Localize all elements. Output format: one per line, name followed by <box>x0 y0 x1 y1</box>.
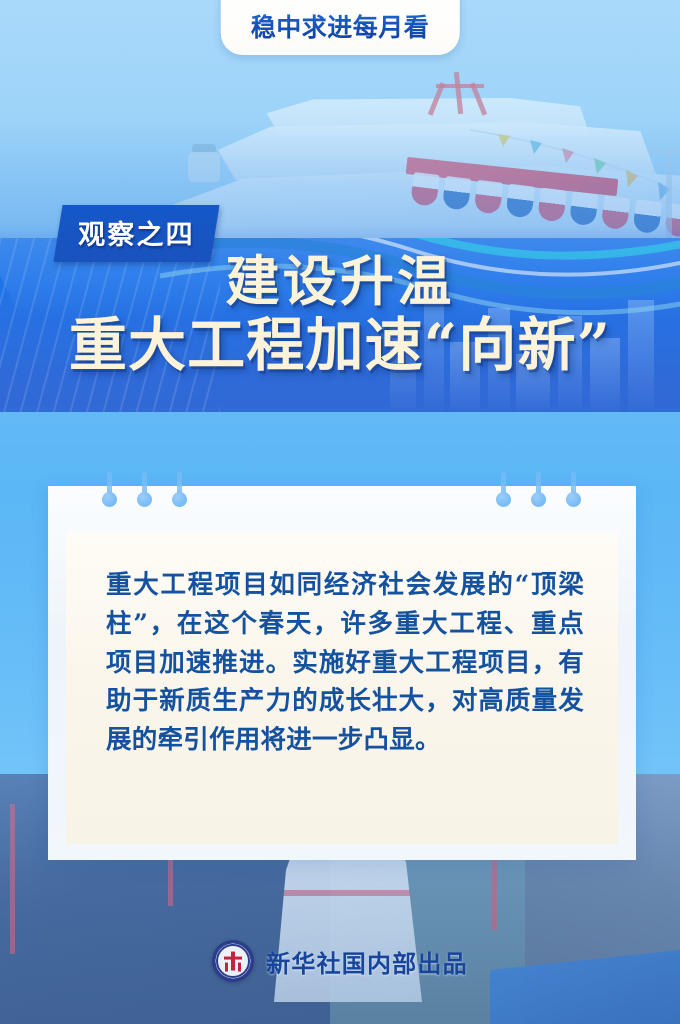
series-tag-observation: 观察之四 <box>53 205 219 262</box>
poster-root: 建设升温 重大工程加速“向新” 观察之四 稳中求进每月看 重大工程项目如同经 <box>0 0 680 1024</box>
title-line-1: 建设升温 <box>0 254 680 308</box>
content-card: 重大工程项目如同经济社会发展的“顶梁柱”，在这个春天，许多重大工程、重点项目加速… <box>48 486 636 860</box>
poster-title: 建设升温 重大工程加速“向新” <box>0 254 680 374</box>
xinhua-logo-icon <box>212 940 254 982</box>
series-badge: 稳中求进每月看 <box>221 0 460 55</box>
series-tag-label: 观察之四 <box>78 213 195 252</box>
title-band: 建设升温 重大工程加速“向新” <box>0 238 680 412</box>
card-pin-decorations <box>48 472 636 522</box>
content-card-panel: 重大工程项目如同经济社会发展的“顶梁柱”，在这个春天，许多重大工程、重点项目加速… <box>66 532 618 844</box>
logo-glyph <box>222 950 244 972</box>
title-line-2: 重大工程加速“向新” <box>0 316 680 374</box>
footer: 新华社国内部出品 <box>0 940 680 982</box>
series-badge-label: 稳中求进每月看 <box>251 13 430 42</box>
card-body-text: 重大工程项目如同经济社会发展的“顶梁柱”，在这个春天，许多重大工程、重点项目加速… <box>106 566 584 760</box>
footer-credit-text: 新华社国内部出品 <box>266 944 468 979</box>
